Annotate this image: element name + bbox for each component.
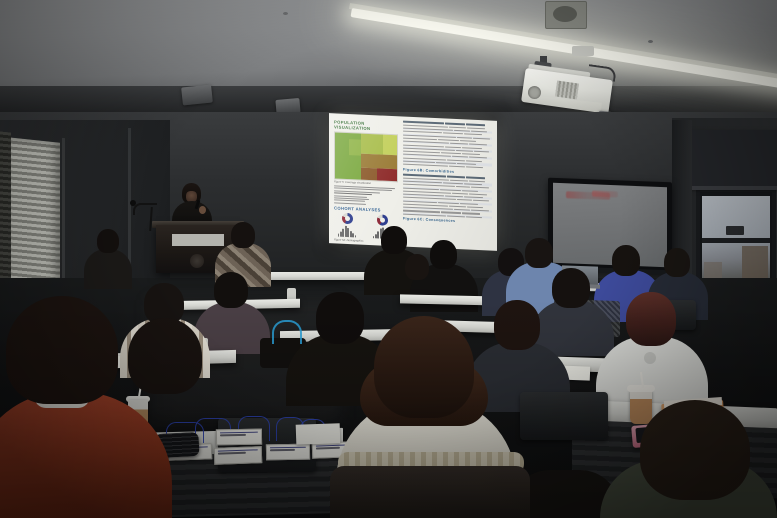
attendee-head — [231, 222, 255, 248]
attendee-head — [552, 268, 590, 308]
podium-emblem — [190, 254, 204, 268]
handbag-strap — [272, 320, 302, 344]
cohort-chart-a — [334, 212, 360, 238]
donut-chart — [377, 214, 388, 225]
donut-chart — [342, 213, 353, 224]
projected-slide: POPULATION VISUALIZATION Figure 5: Cover… — [329, 113, 497, 251]
podium-panel — [172, 234, 224, 246]
slide-heading-population: POPULATION VISUALIZATION — [334, 119, 398, 132]
coat-on-chair — [330, 466, 530, 518]
ceiling-sensor-icon — [572, 46, 594, 56]
attendee-red-sweater-head — [6, 296, 118, 404]
attendee-body — [84, 249, 132, 289]
name-badge[interactable] — [266, 444, 310, 461]
attendee-head — [612, 245, 640, 276]
projector-vent — [555, 81, 579, 100]
name-badge[interactable] — [216, 429, 262, 446]
ceiling-fixture-dot — [283, 12, 288, 15]
attendee-head — [640, 400, 750, 500]
window-sill-object — [726, 226, 744, 235]
lecture-hall-photo: POPULATION VISUALIZATION Figure 5: Cover… — [0, 0, 777, 518]
name-badge[interactable] — [214, 446, 263, 465]
ceiling-speaker-icon — [181, 84, 213, 105]
whiteboard-writing — [592, 191, 618, 198]
attendee-cream-sweater-head — [374, 316, 474, 418]
slide-data-table-bottom — [403, 173, 492, 219]
attendee-collar-detail — [644, 352, 656, 364]
roller-blind[interactable] — [688, 130, 777, 188]
slide-body-text — [334, 185, 398, 206]
attendee-head — [97, 229, 119, 253]
attendee-head — [525, 238, 553, 268]
microphone-arm — [133, 203, 157, 215]
presenter-hand — [199, 206, 206, 214]
attendee-head — [316, 292, 364, 344]
window-mullion — [702, 238, 770, 243]
bar-chart — [334, 225, 360, 238]
attendee-head — [128, 318, 202, 394]
ceiling-fixture-dot — [648, 40, 653, 43]
attendee-head — [430, 240, 457, 269]
chair[interactable] — [520, 392, 608, 440]
attendee-head — [664, 248, 690, 277]
ceiling-vent-icon — [545, 1, 587, 29]
attendee-head — [214, 272, 248, 308]
slide-right-column: Figure 6B: Comorbidities Figur — [403, 121, 492, 226]
projection-screen: POPULATION VISUALIZATION Figure 5: Cover… — [329, 113, 497, 251]
attendee-head — [381, 226, 407, 254]
iced-coffee-cup-right[interactable] — [630, 390, 652, 424]
attendee-head — [494, 300, 540, 350]
attendee-head — [626, 292, 676, 346]
paper-sheet[interactable] — [296, 423, 341, 445]
roller-blind-bar[interactable] — [688, 186, 777, 190]
slide-data-table-top — [403, 121, 492, 170]
treemap-chart — [334, 131, 398, 182]
attendee-head — [405, 254, 429, 280]
microphone-icon — [130, 200, 136, 206]
